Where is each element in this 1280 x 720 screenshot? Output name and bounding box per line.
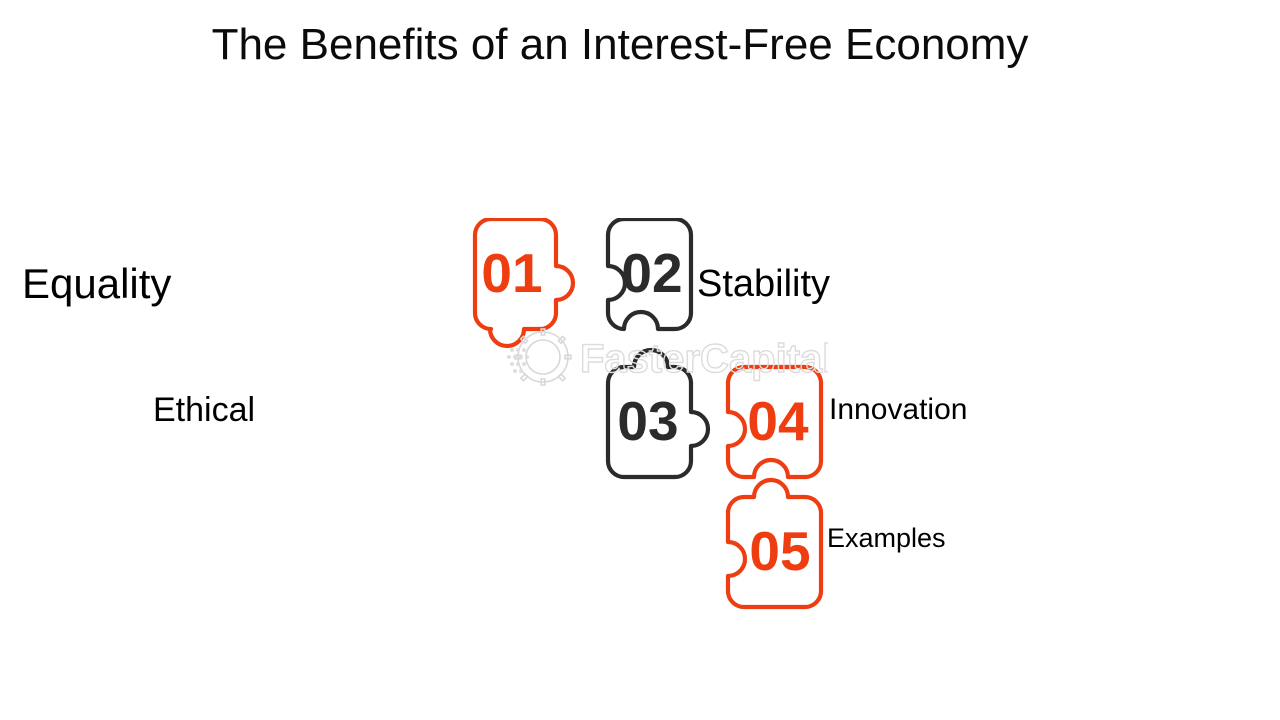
slide-canvas: The Benefits of an Interest-Free Economy… — [0, 0, 1280, 720]
puzzle-piece-03-number: 03 — [617, 390, 678, 452]
puzzle-piece-01-number: 01 — [481, 242, 542, 304]
piece-label-equality: Equality — [22, 258, 171, 310]
piece-label-stability: Stability — [697, 260, 830, 308]
puzzle-piece-04-number: 04 — [747, 390, 809, 452]
puzzle-piece-01[interactable]: 01 — [475, 219, 573, 346]
piece-label-examples: Examples — [827, 520, 946, 556]
puzzle-piece-03[interactable]: 03 — [608, 350, 708, 477]
puzzle-piece-02-number: 02 — [621, 242, 682, 304]
puzzle-piece-05-number: 05 — [749, 520, 810, 582]
page-title: The Benefits of an Interest-Free Economy — [0, 16, 1240, 74]
piece-label-ethical: Ethical — [153, 388, 255, 432]
puzzle-piece-05[interactable]: 05 — [728, 480, 821, 607]
puzzle-piece-04[interactable]: 04 — [728, 367, 821, 477]
piece-label-innovation: Innovation — [829, 390, 967, 430]
puzzle-piece-02[interactable]: 02 — [608, 219, 691, 329]
